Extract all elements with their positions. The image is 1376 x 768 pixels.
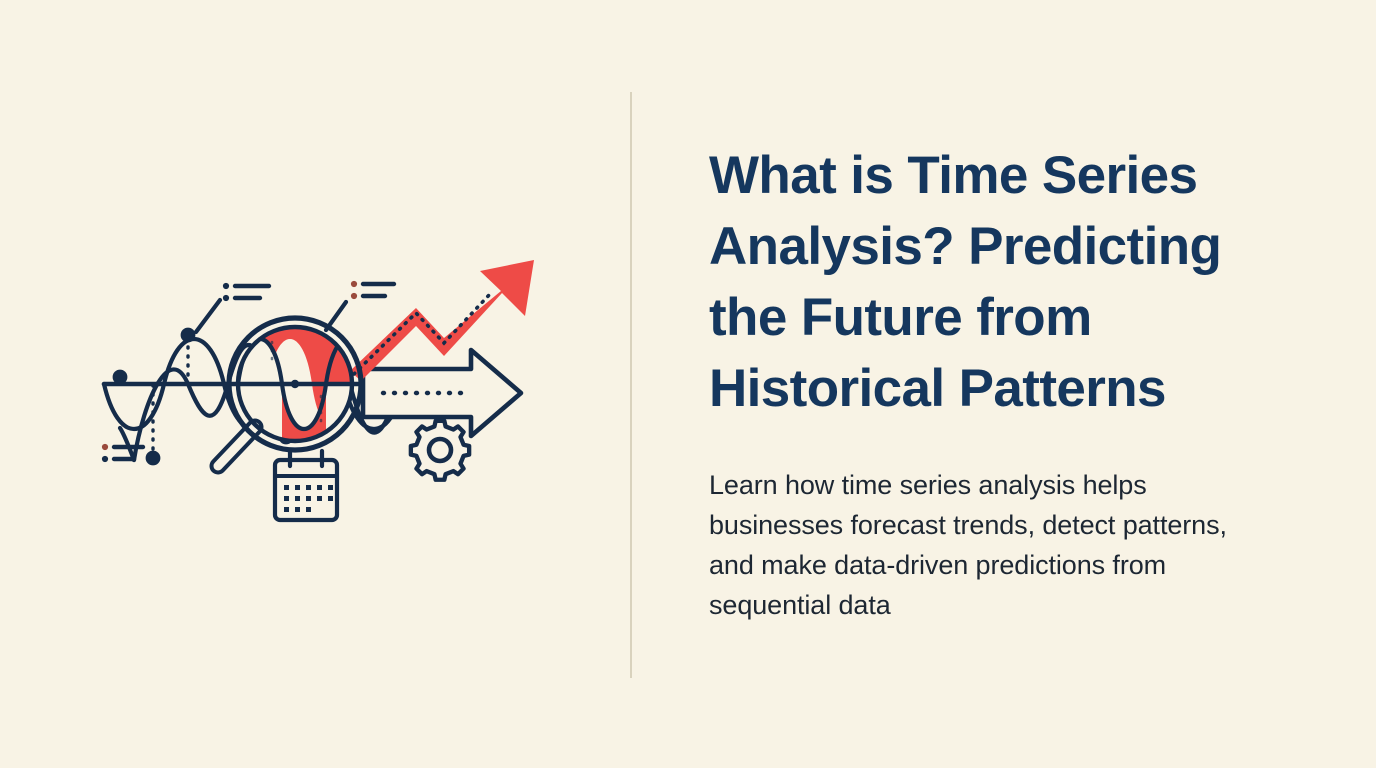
text-panel: What is Time Series Analysis? Predicting…: [709, 140, 1289, 625]
trend-arrow-red: [350, 260, 534, 381]
gear: [411, 421, 469, 480]
page-title: What is Time Series Analysis? Predicting…: [709, 140, 1289, 424]
page-subtitle: Learn how time series analysis helps bus…: [709, 424, 1249, 625]
annotation-leader-left: [120, 428, 134, 460]
vertical-divider: [630, 92, 632, 678]
annotation-leader-top: [196, 300, 220, 332]
illustration-panel: [0, 0, 631, 768]
time-series-analysis-illustration: [78, 238, 558, 538]
slide-root: What is Time Series Analysis? Predicting…: [0, 0, 1376, 768]
calendar: [275, 451, 337, 520]
